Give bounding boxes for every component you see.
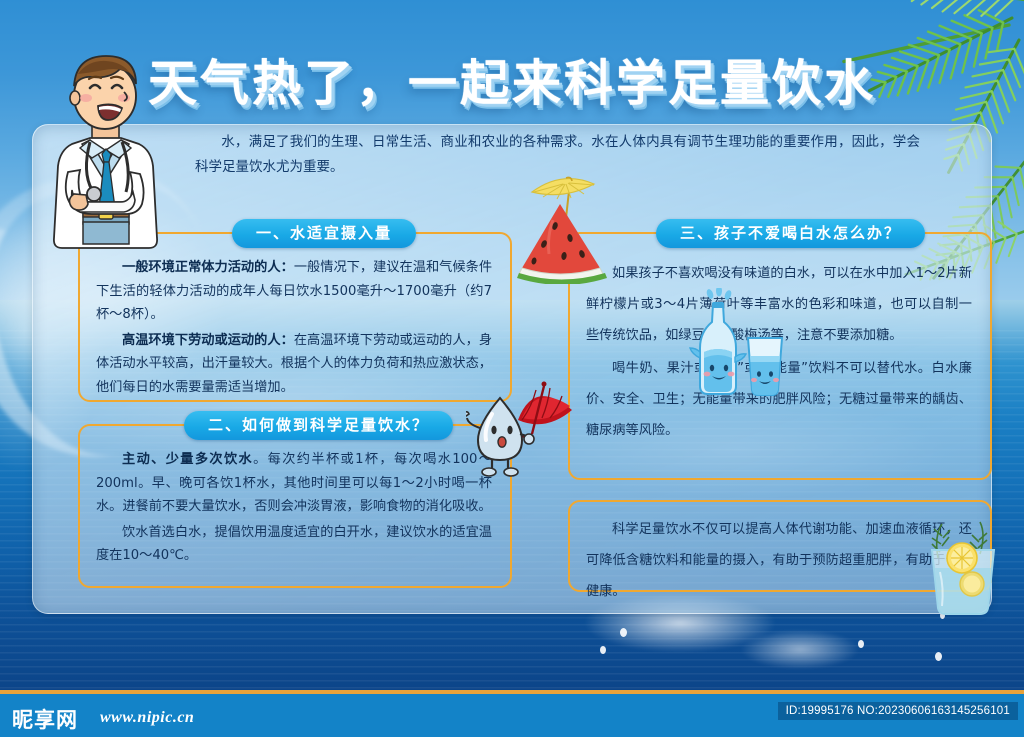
section-2-body: 主动、少量多次饮水。每次约半杯或1杯，每次喝水100～200ml。早、晚可各饮1…	[80, 426, 510, 576]
paragraph: 高温环境下劳动或运动的人：在高温环境下劳动或运动的人，身体活动水平较高，出汗量较…	[96, 329, 492, 400]
poster-title: 天气热了，一起来科学足量饮水	[148, 44, 878, 115]
doctor-character-icon	[38, 44, 173, 264]
water-droplet-character-icon	[466, 378, 578, 482]
lemonade-glass-icon	[920, 512, 1006, 616]
section-2-heading: 二、如何做到科学足量饮水？	[184, 411, 453, 440]
splash-droplet	[620, 628, 627, 637]
watermelon-slice-icon	[508, 168, 612, 284]
section-1-heading: 一、水适宜摄入量	[232, 219, 416, 248]
conclusion-text: 科学足量饮水不仅可以提高人体代谢功能、加速血液循环，还可降低含糖饮料和能量的摄入…	[586, 522, 972, 599]
image-id-tag: ID:19995176 NO:20230606163145256101	[778, 702, 1018, 720]
section-3-heading: 三、孩子不爱喝白水怎么办？	[656, 219, 925, 248]
splash-droplet	[935, 652, 942, 661]
water-bottle-character-icon	[686, 288, 748, 400]
paragraph-lead: 高温环境下劳动或运动的人：	[122, 333, 294, 348]
splash-droplet	[600, 646, 606, 654]
paragraph: 科学足量饮水不仅可以提高人体代谢功能、加速血液循环，还可降低含糖饮料和能量的摄入…	[586, 514, 972, 607]
site-logo-cn[interactable]: 昵享网	[12, 704, 78, 734]
water-glass-character-icon	[742, 330, 788, 398]
poster-canvas: 天气热了，一起来科学足量饮水	[0, 0, 1024, 737]
paragraph-lead: 主动、少量多次饮水	[122, 452, 253, 467]
paragraph: 一般环境正常体力活动的人：一般情况下，建议在温和气候条件下生活的轻体力活动的成年…	[96, 256, 492, 327]
site-logo-url[interactable]: www.nipic.cn	[100, 709, 194, 727]
paragraph-text: 饮水首选白水，提倡饮用温度适宜的白开水，建议饮水的适宜温度在10～40℃。	[96, 525, 492, 564]
paragraph: 主动、少量多次饮水。每次约半杯或1杯，每次喝水100～200ml。早、晚可各饮1…	[96, 448, 492, 519]
paragraph: 饮水首选白水，提倡饮用温度适宜的白开水，建议饮水的适宜温度在10～40℃。	[96, 521, 492, 568]
splash-droplet	[858, 640, 864, 648]
section-card-2: 二、如何做到科学足量饮水？ 主动、少量多次饮水。每次约半杯或1杯，每次喝水100…	[78, 424, 512, 588]
